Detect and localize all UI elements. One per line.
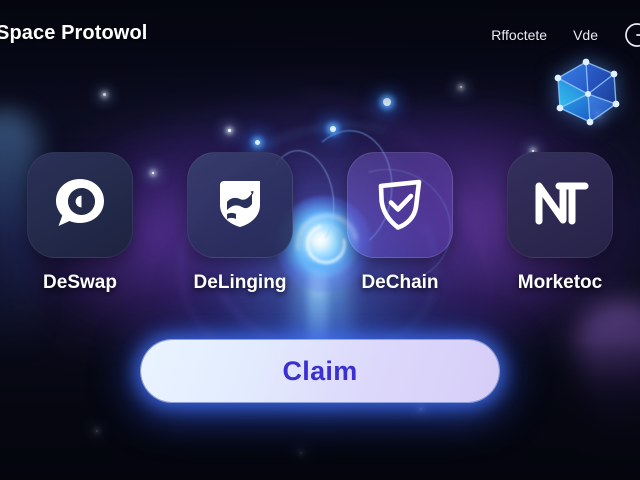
shield-check-icon [371, 174, 429, 237]
app-tile-row: DeSwap DeLinging [0, 152, 640, 302]
clock-circle-icon[interactable] [624, 22, 640, 48]
nt-monogram-icon [529, 175, 591, 236]
particle-dot-3 [255, 140, 260, 145]
app-label-deswap: DeSwap [43, 272, 117, 294]
app-label-dechain: DeChain [361, 272, 438, 294]
star-2 [228, 129, 231, 132]
app-label-morketoc: Morketoc [518, 272, 602, 294]
particle-dot-2 [330, 126, 336, 132]
app-tile-morketoc-icon-bg[interactable] [507, 152, 613, 258]
app-header: Space Protowol Rffoctete Vde [0, 0, 640, 62]
app-tile-dechain[interactable]: DeChain [320, 152, 480, 294]
app-tile-morketoc[interactable]: Morketoc [480, 152, 640, 294]
app-label-delinging: DeLinging [194, 272, 287, 294]
nav-link-rffoctete[interactable]: Rffoctete [491, 27, 547, 43]
header-nav: Rffoctete Vde [491, 22, 636, 48]
claim-button[interactable]: Claim [141, 340, 499, 402]
app-tile-delinging[interactable]: DeLinging [160, 152, 320, 294]
app-tile-delinging-icon-bg[interactable] [187, 152, 293, 258]
chat-bubble-c-icon [51, 174, 109, 237]
app-tile-deswap-icon-bg[interactable] [27, 152, 133, 258]
nav-link-vde[interactable]: Vde [573, 27, 598, 43]
app-root: Space Protowol Rffoctete Vde [0, 0, 640, 480]
claim-button-container: Claim [0, 340, 640, 402]
page-title: Space Protowol [0, 22, 147, 45]
shield-swoosh-icon [212, 174, 268, 237]
polygon-network-logo-icon [538, 52, 634, 138]
app-tile-dechain-icon-bg[interactable] [347, 152, 453, 258]
app-tile-deswap[interactable]: DeSwap [0, 152, 160, 294]
